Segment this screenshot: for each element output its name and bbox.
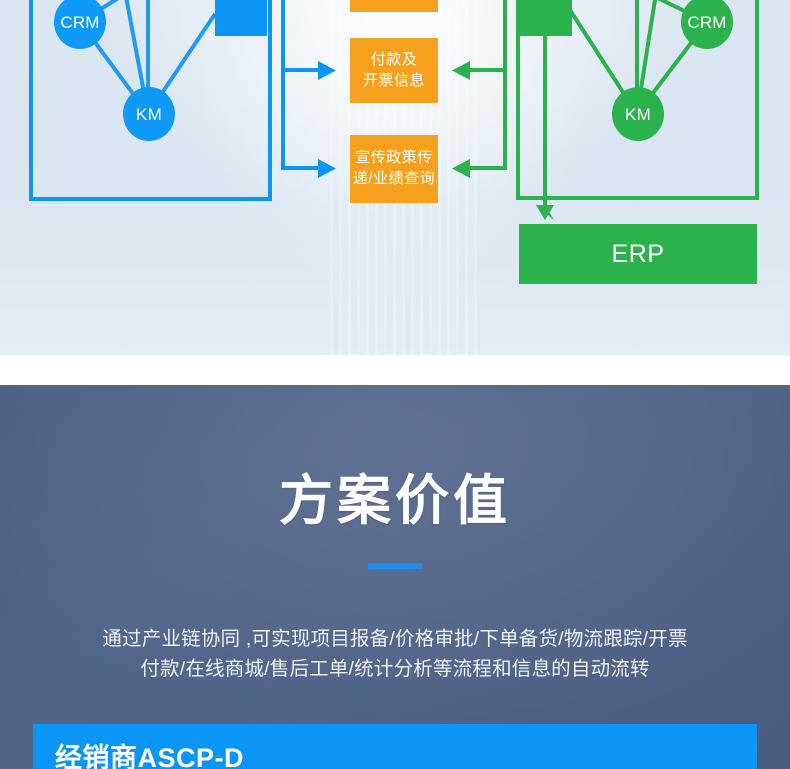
description-line-1: 通过产业链协同 ,可实现项目报备/价格审批/下单备货/物流跟踪/开票 (22, 624, 768, 654)
node-label-green-crm: CRM (687, 13, 726, 33)
process-box-payment-line-1: 付款及 (363, 50, 425, 71)
node-label-blue-crm: CRM (60, 13, 99, 33)
process-box-policy: 宣传政策传 递/业绩查询 (350, 135, 438, 203)
title-underline-divider (368, 563, 422, 569)
dealer-ascp-banner: 经销商ASCP-D (33, 724, 757, 769)
node-label-green-km: KM (625, 105, 651, 125)
section-divider-gap (0, 355, 790, 385)
description-line-2: 付款/在线商城/售后工单/统计分析等流程和信息的自动流转 (22, 654, 768, 684)
architecture-diagram-section: CRM KM CRM KM 付款及 开票信息 宣传政策传 递/业绩查询 ERP (0, 0, 790, 355)
erp-label: ERP (612, 240, 665, 269)
dealer-banner-title: 经销商ASCP-D (55, 736, 244, 769)
solution-value-section (0, 385, 790, 769)
page-title: 方案价值 (0, 474, 790, 528)
erp-box: ERP (519, 224, 757, 284)
solution-value-description: 通过产业链协同 ,可实现项目报备/价格审批/下单备货/物流跟踪/开票 付款/在线… (22, 624, 768, 685)
process-box-payment: 付款及 开票信息 (350, 38, 438, 103)
process-box-policy-line-2: 递/业绩查询 (353, 169, 435, 190)
process-box-policy-line-1: 宣传政策传 (353, 148, 435, 169)
process-box-top (350, 0, 438, 12)
node-label-blue-km: KM (136, 105, 162, 125)
process-box-payment-line-2: 开票信息 (363, 71, 425, 92)
